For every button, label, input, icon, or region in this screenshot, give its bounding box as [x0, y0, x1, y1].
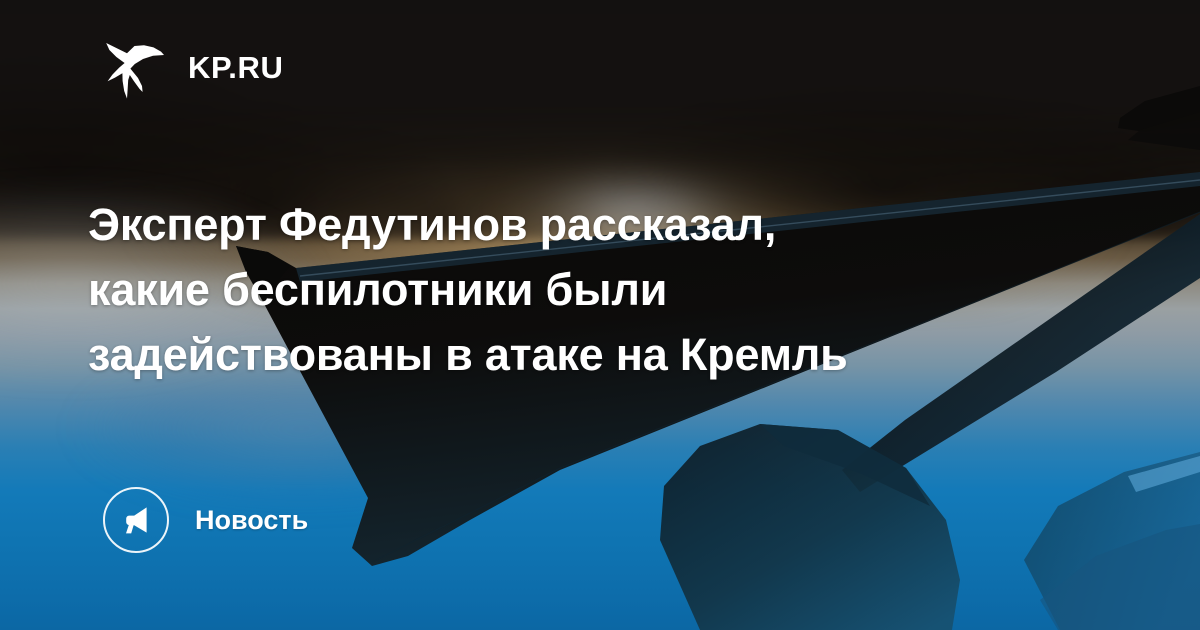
headline-line-3: задействованы в атаке на Кремль [88, 322, 1098, 387]
news-share-card: KP.RU Эксперт Федутинов рассказал, какие… [0, 0, 1200, 630]
headline-line-1: Эксперт Федутинов рассказал, [88, 192, 1098, 257]
site-header: KP.RU [104, 34, 283, 100]
headline: Эксперт Федутинов рассказал, какие беспи… [88, 192, 1098, 387]
logo-wordmark: KP.RU [188, 52, 283, 83]
badge-icon-circle [103, 487, 169, 553]
swallow-bird-icon [104, 34, 166, 100]
megaphone-icon [119, 503, 153, 537]
category-badge[interactable]: Новость [103, 487, 308, 553]
badge-label: Новость [195, 507, 308, 534]
headline-line-2: какие беспилотники были [88, 257, 1098, 322]
